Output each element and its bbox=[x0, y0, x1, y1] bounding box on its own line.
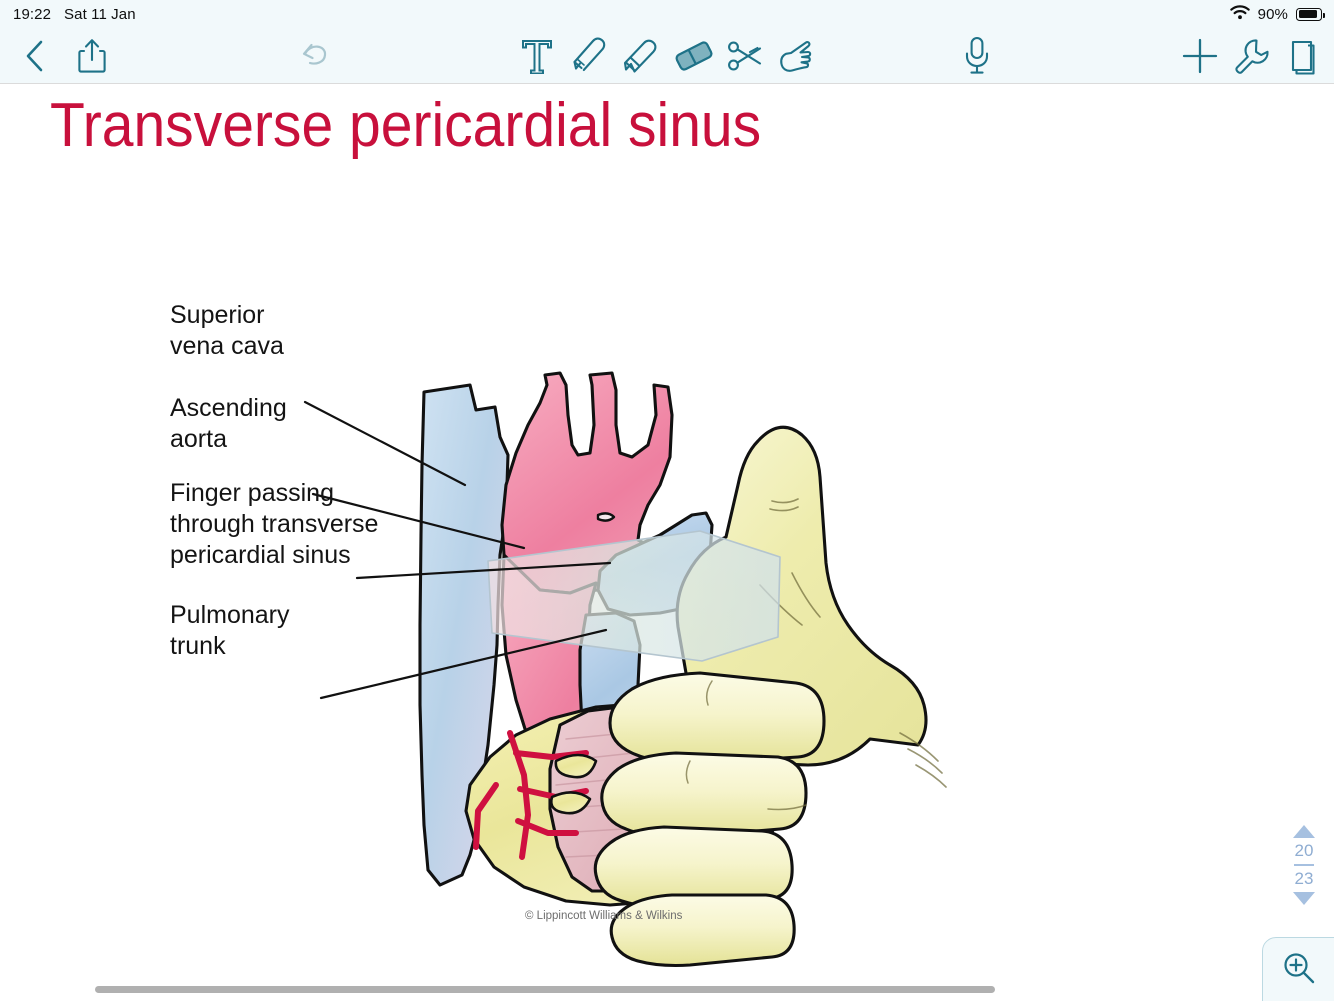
status-bar-left: 19:22 Sat 11 Jan bbox=[0, 6, 136, 23]
zoom-in-button[interactable] bbox=[1262, 937, 1334, 1001]
status-bar: 19:22 Sat 11 Jan 90% bbox=[0, 0, 1334, 28]
anatomy-figure: Superior vena cava Ascending aorta Finge… bbox=[0, 85, 1334, 1001]
figure-label-ascending-aorta: Ascending aorta bbox=[170, 393, 287, 455]
page-up-icon[interactable] bbox=[1293, 825, 1315, 838]
undo-icon[interactable] bbox=[299, 41, 331, 71]
toolbar bbox=[0, 28, 1334, 84]
figure-label-superior-vena-cava: Superior vena cava bbox=[170, 300, 284, 362]
pen-tool-icon[interactable] bbox=[569, 37, 609, 75]
status-bar-right: 90% bbox=[1230, 5, 1334, 24]
add-icon[interactable] bbox=[1181, 37, 1219, 75]
scissors-tool-icon[interactable] bbox=[726, 38, 766, 74]
share-icon[interactable] bbox=[77, 37, 107, 75]
battery-percent: 90% bbox=[1258, 6, 1288, 23]
hand-tool-icon[interactable] bbox=[777, 37, 817, 75]
status-date: Sat 11 Jan bbox=[64, 6, 136, 23]
figure-label-pulmonary-trunk: Pulmonary trunk bbox=[170, 600, 290, 662]
battery-level-fill bbox=[1299, 10, 1317, 18]
battery-icon bbox=[1296, 8, 1322, 21]
total-page-count: 23 bbox=[1295, 869, 1314, 889]
pages-icon[interactable] bbox=[1284, 37, 1316, 75]
wifi-icon bbox=[1230, 5, 1250, 24]
status-time: 19:22 bbox=[13, 6, 51, 23]
highlighter-tool-icon[interactable] bbox=[621, 37, 661, 75]
settings-wrench-icon[interactable] bbox=[1233, 37, 1271, 75]
page-down-icon[interactable] bbox=[1293, 892, 1315, 905]
text-tool-icon[interactable] bbox=[520, 38, 554, 74]
figure-label-finger-transverse-sinus: Finger passing through transverse perica… bbox=[170, 478, 378, 571]
document-page[interactable]: Transverse pericardial sinus bbox=[0, 85, 1334, 1001]
app-root: 19:22 Sat 11 Jan 90% bbox=[0, 0, 1334, 1001]
zoom-in-icon bbox=[1282, 951, 1316, 990]
figure-credit: © Lippincott Williams & Wilkins bbox=[525, 910, 682, 922]
back-chevron-icon[interactable] bbox=[23, 39, 47, 73]
current-page-number: 20 bbox=[1295, 841, 1314, 861]
eraser-tool-icon[interactable] bbox=[672, 40, 716, 72]
page-navigator: 20 23 bbox=[1286, 825, 1322, 905]
microphone-icon[interactable] bbox=[963, 36, 991, 76]
horizontal-scrollbar[interactable] bbox=[95, 986, 995, 993]
page-number-divider bbox=[1294, 864, 1314, 866]
